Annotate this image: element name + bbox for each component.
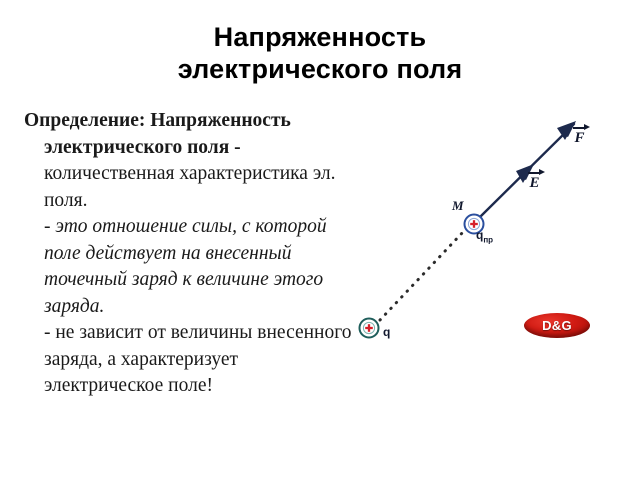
paragraph-definition: Определение: Напряженность электрическог… xyxy=(24,108,396,161)
dg-watermark-badge: D&G xyxy=(524,313,590,338)
dg-badge-text: D&G xyxy=(542,318,572,333)
page-title: Напряженность электрического поля xyxy=(60,22,580,86)
paragraph-independence: - не зависит от величины внесенного заря… xyxy=(24,320,396,400)
independence-line-1: - не зависит от величины внесенного xyxy=(44,320,396,347)
point-m-label: M xyxy=(452,198,464,214)
f-vector-letter: F xyxy=(572,131,587,146)
ratio-line-1: - это отношение силы, с которой xyxy=(44,214,396,241)
quantitative-line-1: количественная характеристика эл. xyxy=(44,161,396,188)
e-vector-arrow-bar xyxy=(527,169,542,176)
slide-canvas: Напряженность электрического поля Опреде… xyxy=(0,0,640,480)
e-vector-label: E xyxy=(527,169,542,191)
body-text-block: Определение: Напряженность электрическог… xyxy=(24,108,396,400)
test-charge-label-subscript: пр xyxy=(483,235,493,244)
title-line-1: Напряженность xyxy=(60,22,580,54)
test-charge-label: qпр xyxy=(476,228,493,244)
paragraph-quantitative: количественная характеристика эл. поля. xyxy=(24,161,396,214)
quantitative-line-2: поля. xyxy=(44,188,396,215)
f-vector-label: F xyxy=(572,124,587,146)
e-vector-letter: E xyxy=(527,176,542,191)
paragraph-ratio-italic: - это отношение силы, с которой поле дей… xyxy=(24,214,396,320)
f-vector-arrow-bar xyxy=(572,124,587,131)
ratio-line-3: точечный заряд к величине этого xyxy=(44,267,396,294)
ratio-line-2: поле действует на внесенный xyxy=(44,241,396,268)
ratio-line-4: заряда. xyxy=(44,294,396,321)
source-charge-label: q xyxy=(383,325,390,339)
definition-line-2: электрического поля - xyxy=(24,135,396,162)
independence-line-2: заряда, а характеризует xyxy=(44,347,396,374)
title-line-2: электрического поля xyxy=(60,54,580,86)
definition-line-1: Определение: Напряженность xyxy=(24,108,396,135)
independence-line-3: электрическое поле! xyxy=(44,373,396,400)
